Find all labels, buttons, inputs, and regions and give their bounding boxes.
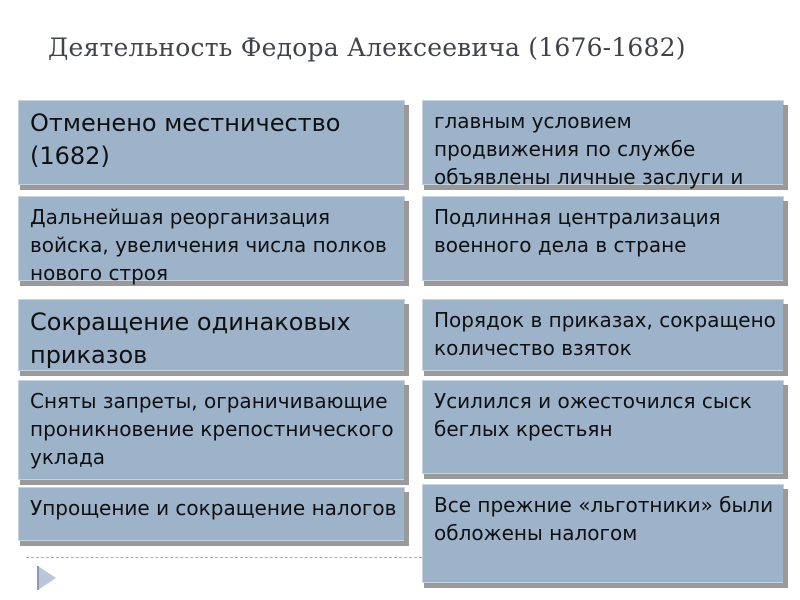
placeholder-divider <box>26 557 422 558</box>
table-row-5-right-cell[interactable]: Все прежние «льготники» были обложены на… <box>422 484 784 583</box>
cell-text: Упрощение и сокращение налогов <box>30 494 397 522</box>
table-row-2-left-cell[interactable]: Дальнейшая реорганизация войска, увеличе… <box>18 196 405 281</box>
table-row-1-right-cell[interactable]: главным условием продвижения по службе о… <box>422 100 784 185</box>
cell-text: Сняты запреты, ограничивающие проникнове… <box>30 387 397 471</box>
table-row-2-right-cell[interactable]: Подлинная централизация военного дела в … <box>422 196 784 281</box>
slide-canvas: Деятельность Федора Алексеевича (1676-16… <box>0 0 800 600</box>
play-triangle-icon-edge <box>37 566 39 590</box>
cell-text: Дальнейшая реорганизация войска, увеличе… <box>30 203 397 287</box>
cell-text: Подлинная централизация военного дела в … <box>434 203 776 259</box>
table-row-4-left-cell[interactable]: Сняты запреты, ограничивающие проникнове… <box>18 380 405 480</box>
cell-text: Отменено местничество (1682) <box>30 107 397 173</box>
play-triangle-icon[interactable] <box>38 566 56 590</box>
cell-text: Порядок в приказах, сокращено количество… <box>434 306 776 362</box>
table-row-3-left-cell[interactable]: Сокращение одинаковых приказов <box>18 299 405 371</box>
table-row-3-right-cell[interactable]: Порядок в приказах, сокращено количество… <box>422 299 784 371</box>
table-row-4-right-cell[interactable]: Усилился и ожесточился сыск беглых крест… <box>422 380 784 474</box>
table-row-1-left-cell[interactable]: Отменено местничество (1682) <box>18 100 405 185</box>
cell-text: Усилился и ожесточился сыск беглых крест… <box>434 387 776 443</box>
page-title: Деятельность Федора Алексеевича (1676-16… <box>48 33 768 63</box>
table-row-5-left-cell[interactable]: Упрощение и сокращение налогов <box>18 487 405 541</box>
cell-text: Все прежние «льготники» были обложены на… <box>434 491 776 547</box>
cell-text: Сокращение одинаковых приказов <box>30 306 397 372</box>
